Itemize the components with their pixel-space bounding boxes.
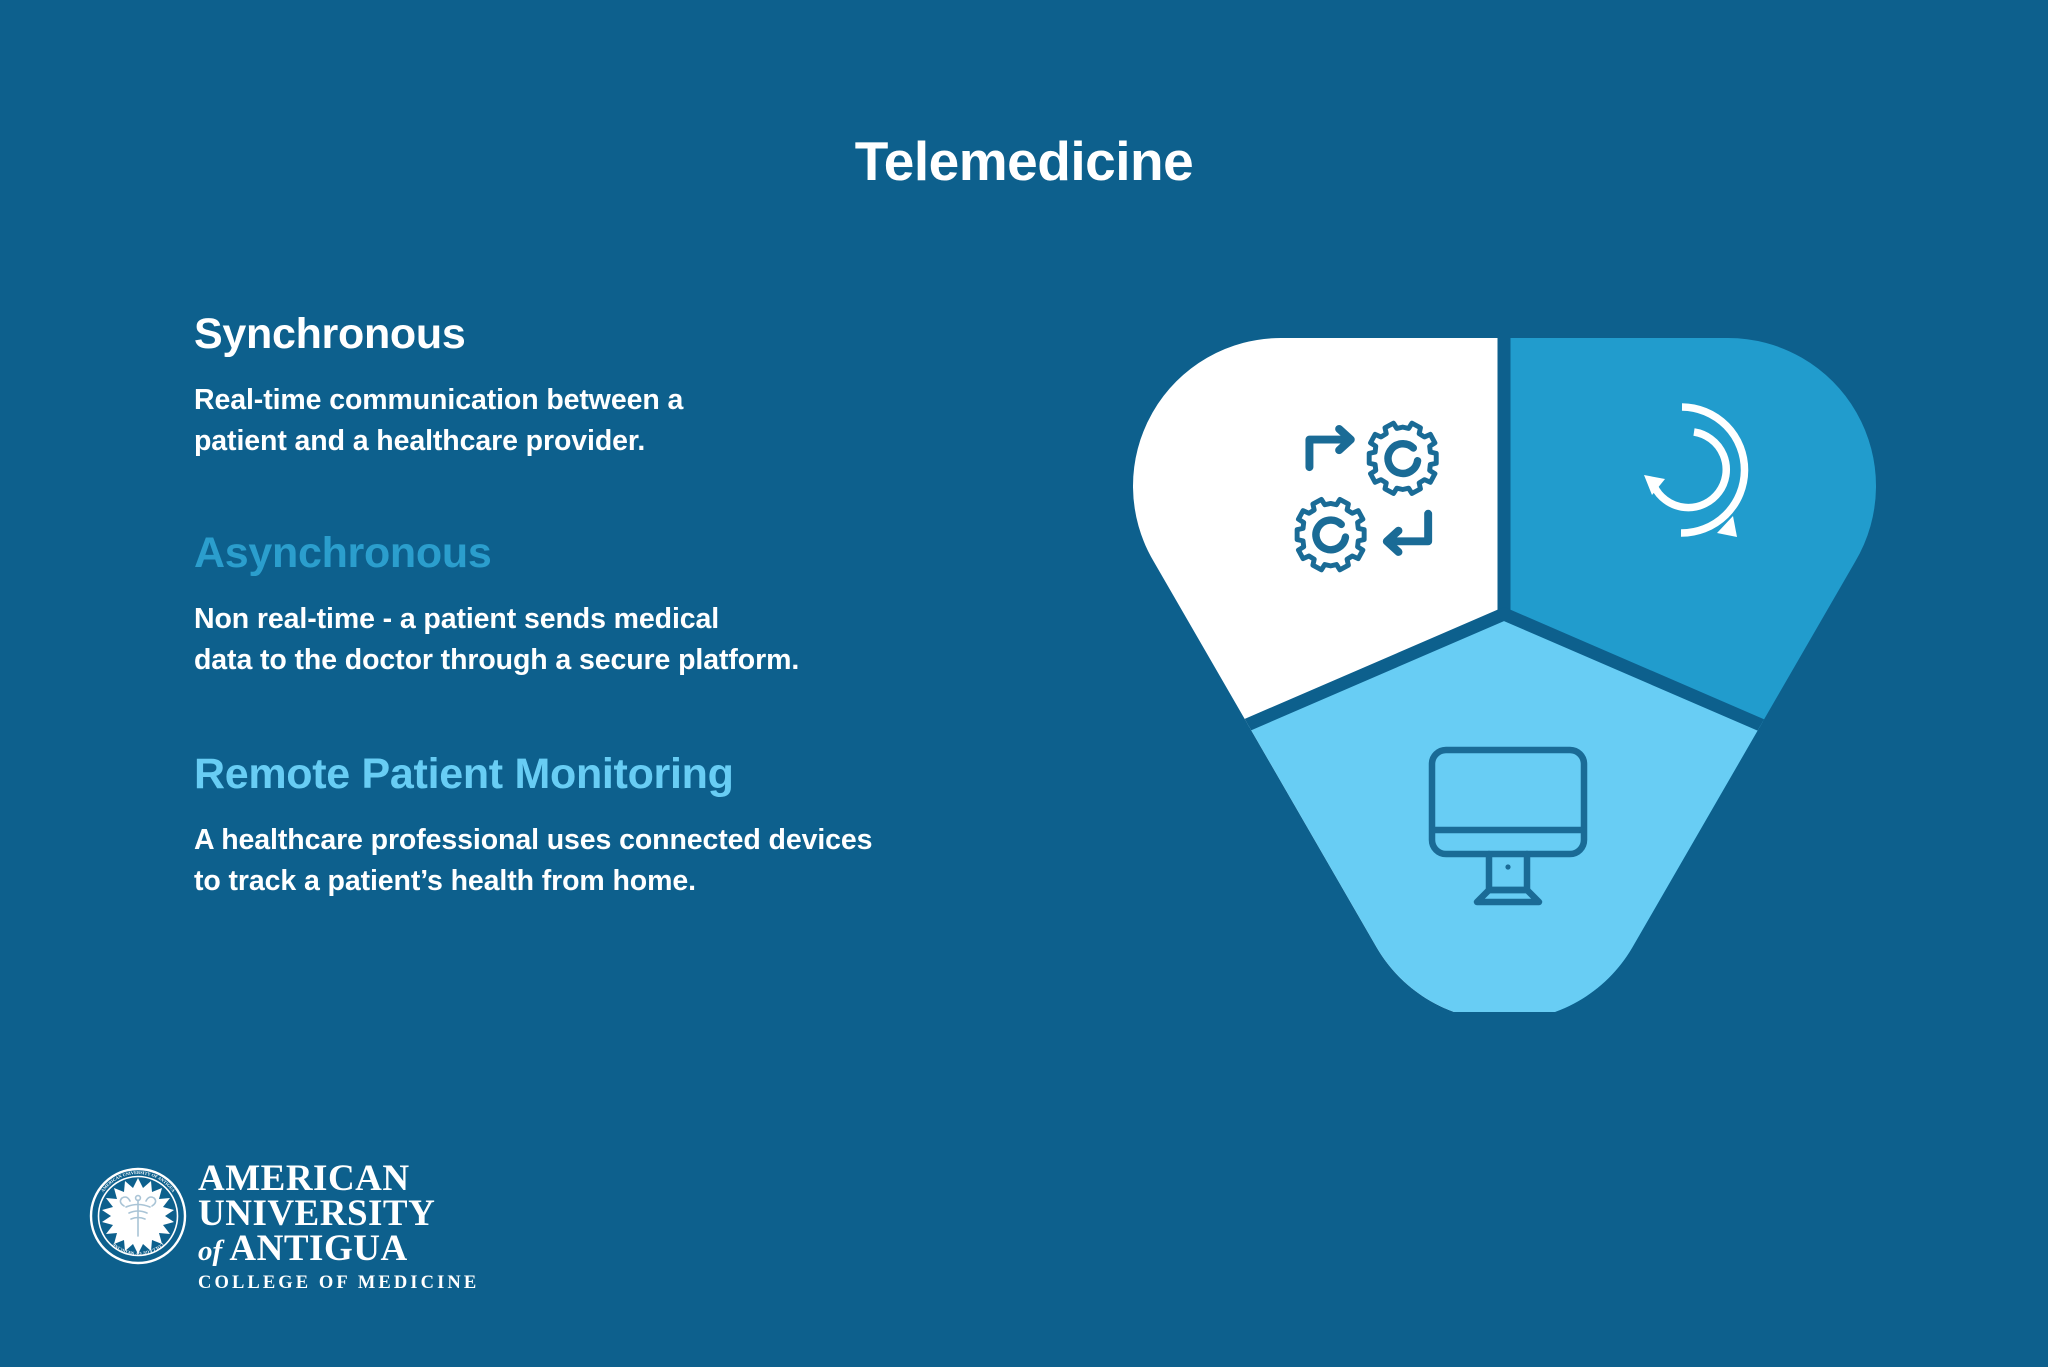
section-asynchronous: Asynchronous Non real-time - a patient s… bbox=[194, 529, 1094, 680]
logo-wordmark: AMERICAN UNIVERSITY of ANTIGUA COLLEGE O… bbox=[198, 1162, 418, 1294]
university-logo: AMERICAN UNIVERSITY OF ANTIGUA COLLEGE O… bbox=[88, 1162, 418, 1302]
section-title-synchronous: Synchronous bbox=[194, 310, 1094, 358]
logo-word-of: of bbox=[198, 1235, 229, 1267]
university-seal-icon: AMERICAN UNIVERSITY OF ANTIGUA COLLEGE O… bbox=[88, 1166, 188, 1266]
section-title-remote-patient-monitoring: Remote Patient Monitoring bbox=[194, 750, 1094, 798]
page-title: Telemedicine bbox=[0, 134, 2048, 189]
infographic-canvas: Telemedicine Synchronous Real-time commu… bbox=[0, 0, 2048, 1367]
logo-line-of-antigua: of ANTIGUA bbox=[198, 1232, 418, 1267]
section-body-remote-patient-monitoring: A healthcare professional uses connected… bbox=[194, 820, 1094, 901]
logo-line-college-of-medicine: COLLEGE OF MEDICINE bbox=[198, 1273, 418, 1294]
logo-word-antigua: ANTIGUA bbox=[229, 1228, 407, 1269]
logo-line-university: UNIVERSITY bbox=[198, 1197, 418, 1232]
section-synchronous: Synchronous Real-time communication betw… bbox=[194, 310, 1094, 461]
section-title-asynchronous: Asynchronous bbox=[194, 529, 1094, 577]
telemedicine-diagram bbox=[1132, 322, 1877, 1012]
logo-line-american: AMERICAN bbox=[198, 1162, 418, 1197]
section-remote-patient-monitoring: Remote Patient Monitoring A healthcare p… bbox=[194, 750, 1094, 901]
text-column: Synchronous Real-time communication betw… bbox=[194, 310, 1094, 901]
section-body-asynchronous: Non real-time - a patient sends medical … bbox=[194, 599, 1094, 680]
section-body-synchronous: Real-time communication between a patien… bbox=[194, 380, 1094, 461]
